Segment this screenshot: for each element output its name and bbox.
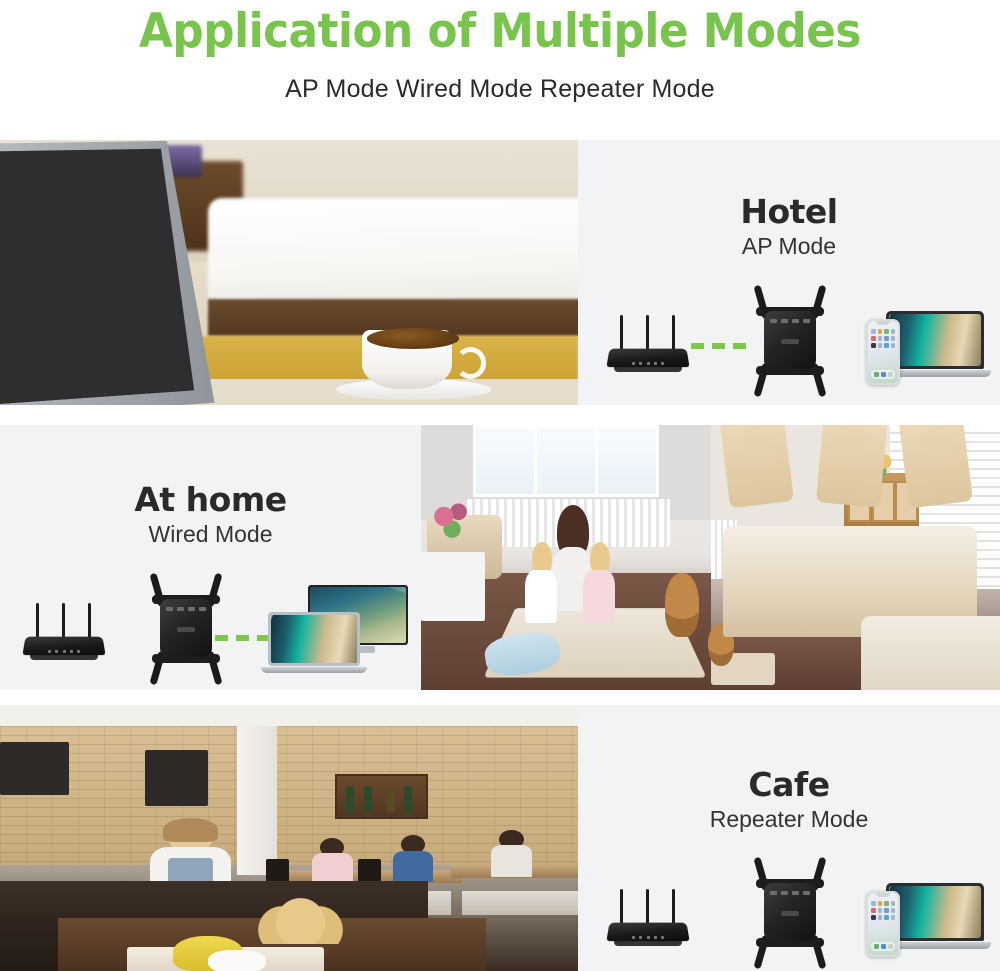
home-photo	[421, 425, 1000, 690]
customer-figure	[312, 838, 352, 883]
cafe-diagram: Cafe Repeater Mode	[578, 705, 1000, 971]
coffee-cup	[353, 320, 474, 400]
hotel-room-scene	[0, 140, 578, 405]
phone-icon	[866, 319, 900, 385]
home-diagram: At home Wired Mode	[0, 425, 421, 690]
panel-home: At home Wired Mode	[0, 425, 1000, 690]
child-figure	[525, 542, 557, 622]
customer-figure	[393, 835, 433, 880]
flower-vase	[430, 499, 476, 557]
laptop-icon	[886, 883, 984, 949]
client-devices-icon	[866, 879, 984, 957]
window	[473, 425, 659, 497]
wifi-extender-icon	[744, 857, 836, 969]
cafe-device-row	[578, 857, 1000, 967]
coffee-table	[421, 552, 485, 621]
page-subtitle: AP Mode Wired Mode Repeater Mode	[0, 55, 1000, 104]
bed	[208, 198, 578, 315]
repeater-to-client-link	[215, 635, 273, 641]
pastry-display	[254, 897, 346, 945]
customer-figure	[491, 830, 531, 875]
home-device-row	[0, 573, 421, 683]
router-icon	[22, 595, 106, 665]
client-devices-icon	[268, 581, 408, 673]
child-figure	[583, 542, 615, 622]
home-title: At home	[0, 480, 421, 519]
hotel-title: Hotel	[578, 192, 1000, 231]
sofa-living-room-scene	[711, 425, 1000, 690]
family-living-room-scene	[421, 425, 711, 690]
cafe-scene	[0, 705, 578, 971]
hotel-photo: Wi-Fi	[0, 140, 578, 405]
laptop-icon	[268, 612, 360, 673]
panel-cafe: Cafe Repeater Mode	[0, 705, 1000, 971]
laptop-photo	[0, 140, 229, 405]
wifi-extender-icon	[744, 285, 836, 397]
hotel-mode-label: AP Mode	[578, 233, 1000, 260]
router-icon	[606, 307, 690, 377]
cafe-mode-label: Repeater Mode	[578, 806, 1000, 833]
ottoman	[861, 616, 1000, 690]
hotel-device-row	[578, 285, 1000, 395]
page-header: Application of Multiple Modes AP Mode Wi…	[0, 0, 1000, 140]
chalkboard	[0, 742, 69, 795]
teacup	[208, 950, 266, 971]
wifi-extender-icon	[140, 573, 232, 685]
panel-hotel: Wi-Fi Hotel AP Mode	[0, 140, 1000, 405]
bench	[462, 891, 578, 915]
page-title: Application of Multiple Modes	[35, 0, 965, 55]
home-mode-label: Wired Mode	[0, 521, 421, 548]
phone-icon	[866, 891, 900, 957]
router-icon	[606, 881, 690, 951]
hotel-diagram: Hotel AP Mode	[578, 140, 1000, 405]
cafe-title: Cafe	[578, 765, 1000, 804]
wine-rack	[335, 774, 427, 819]
teddy-bear	[665, 573, 700, 637]
laptop-icon	[886, 311, 984, 377]
cafe-photo	[0, 705, 578, 971]
column	[237, 726, 277, 875]
client-devices-icon	[866, 307, 984, 385]
chalkboard	[145, 750, 209, 806]
router-to-repeater-link	[691, 343, 749, 349]
